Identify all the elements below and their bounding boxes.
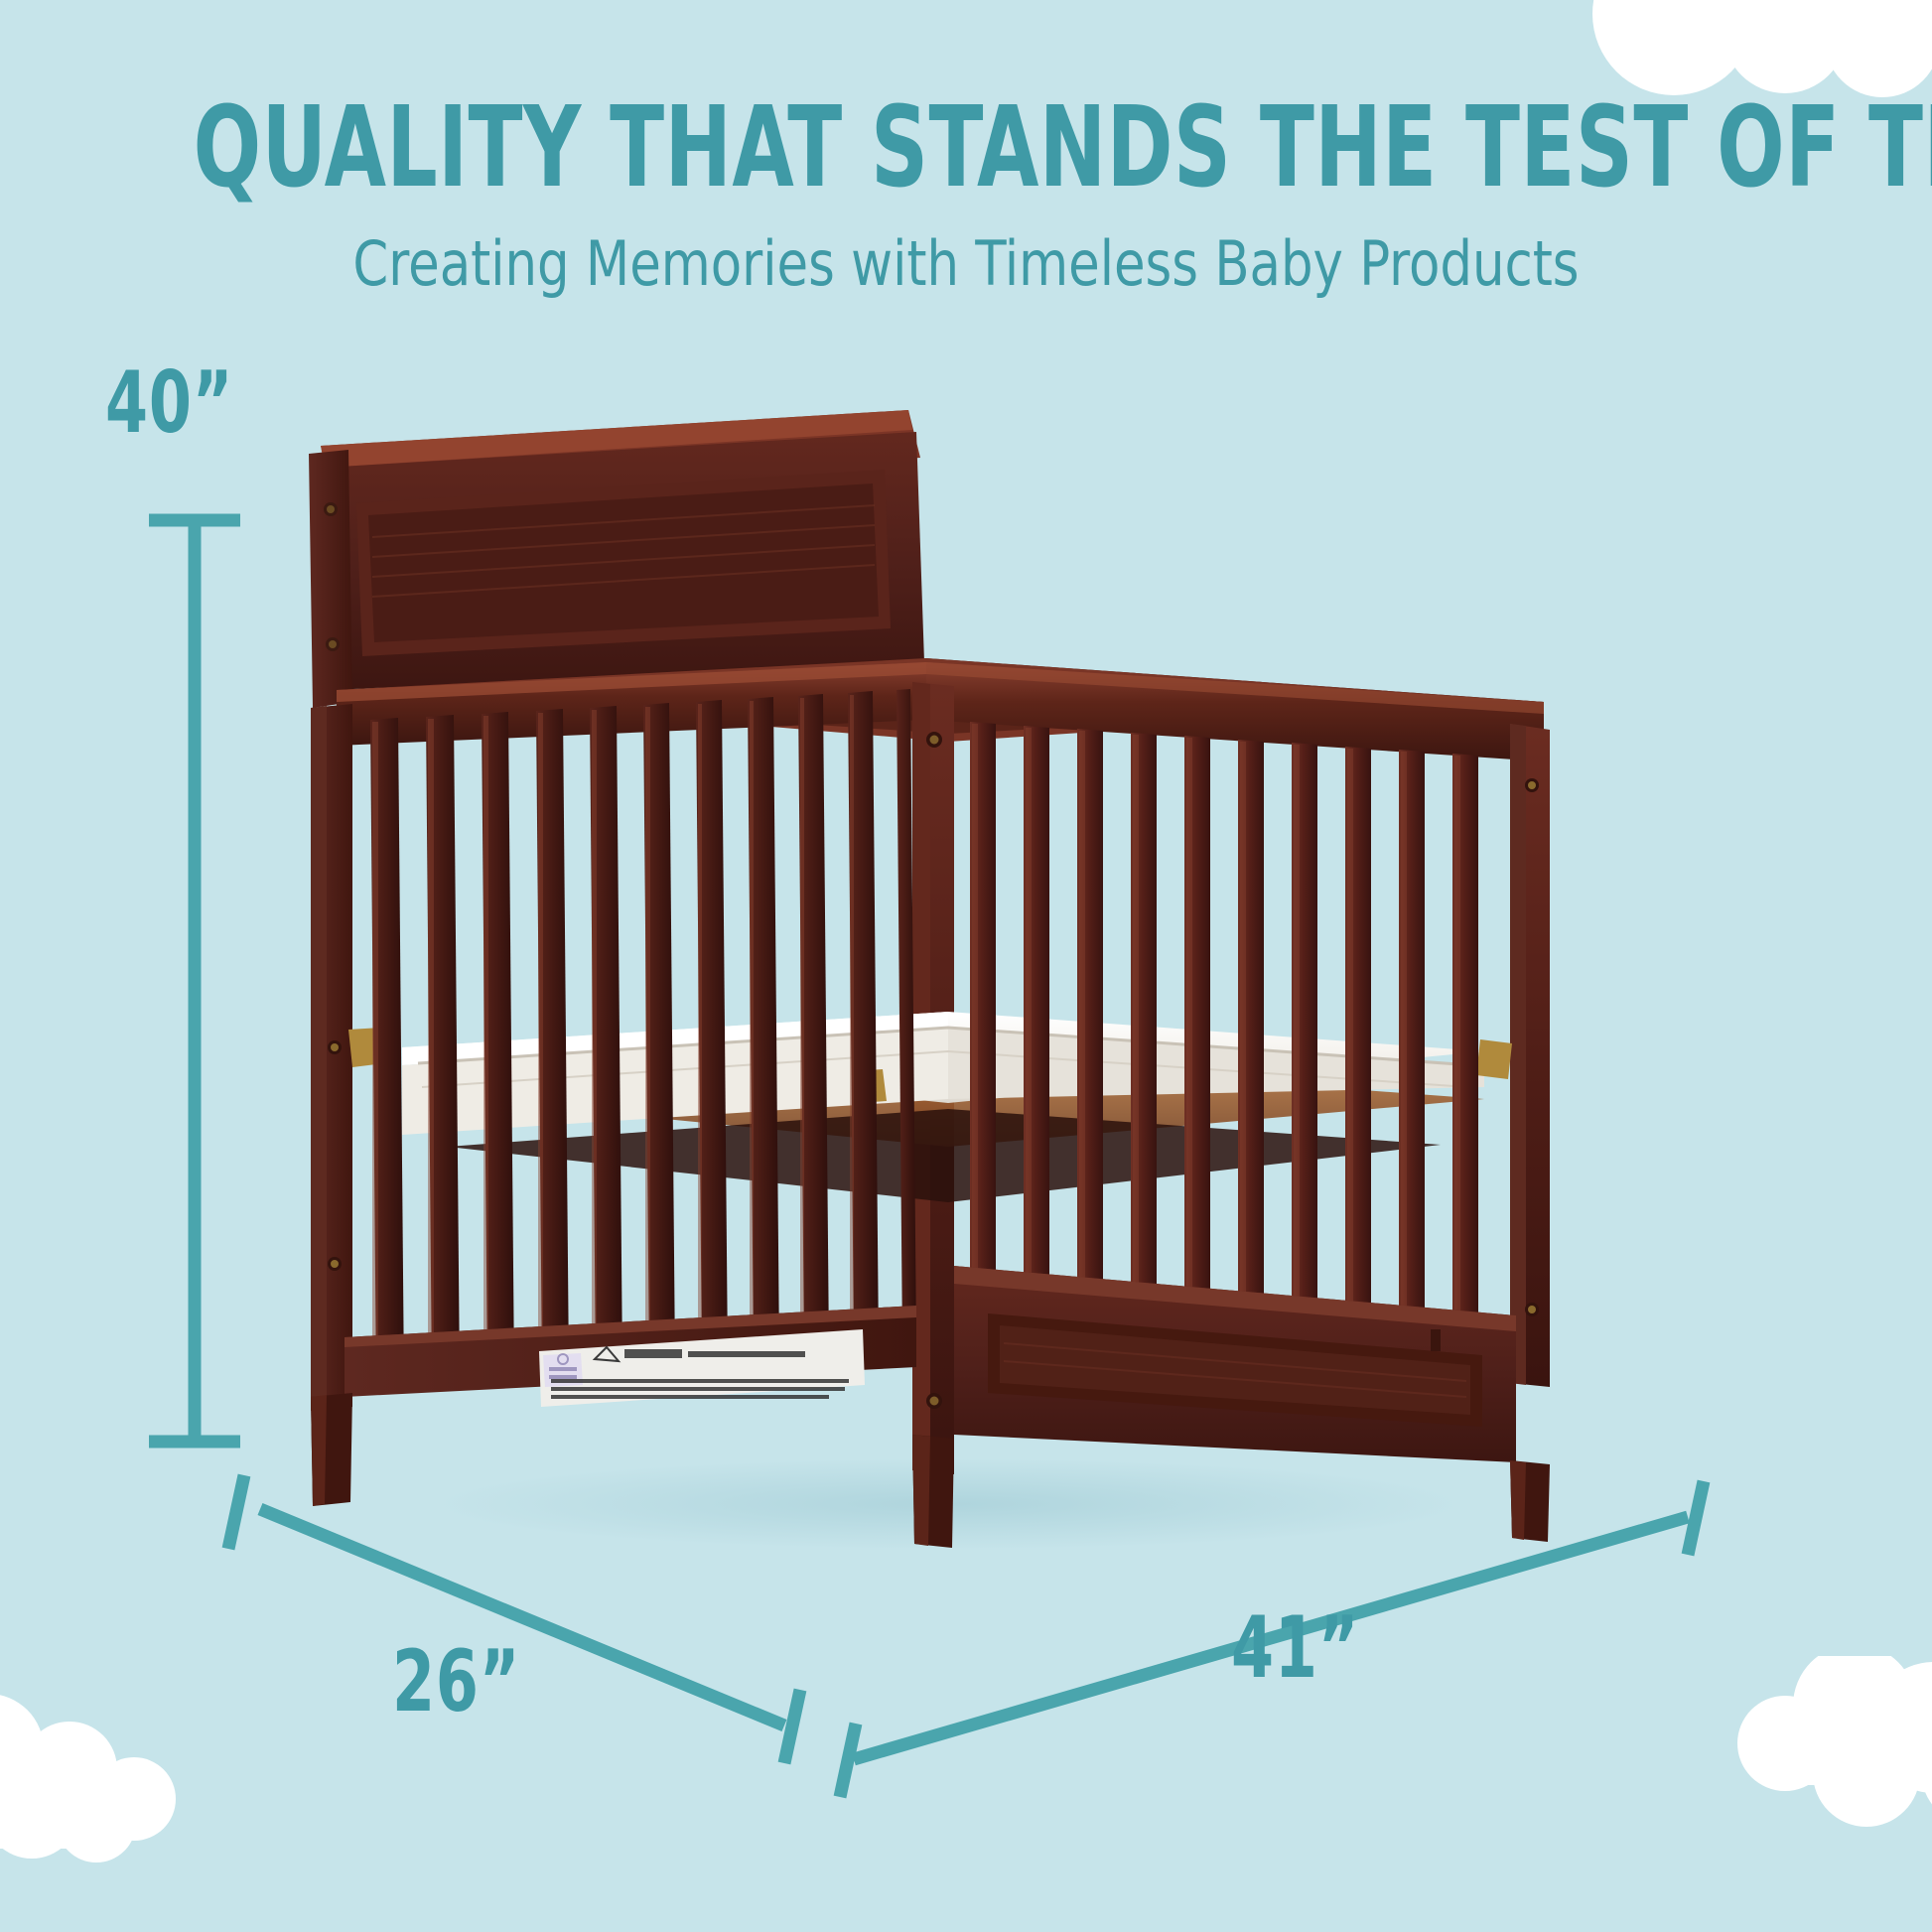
- width-dimension-label: 41”: [1231, 1598, 1359, 1698]
- infographic-canvas: QUALITY THAT STANDS THE TEST OF TIME Cre…: [0, 0, 1932, 1932]
- width-cap-right: [1688, 1481, 1704, 1555]
- width-cap-left: [840, 1724, 856, 1797]
- dimension-overlay: [0, 0, 1932, 1932]
- depth-dimension-line: [260, 1509, 784, 1725]
- height-dimension-label: 40”: [105, 353, 233, 453]
- depth-cap-right: [784, 1690, 800, 1763]
- depth-dimension-label: 26”: [392, 1632, 520, 1731]
- depth-cap-left: [228, 1475, 244, 1549]
